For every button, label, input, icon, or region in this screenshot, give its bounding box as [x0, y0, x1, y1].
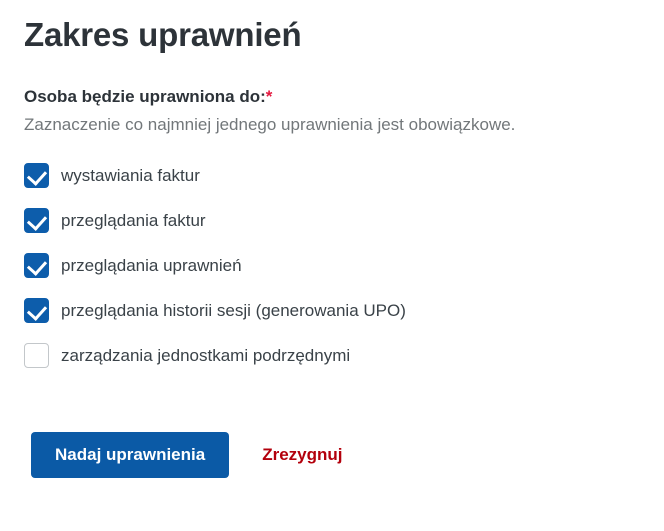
- cancel-button[interactable]: Zrezygnuj: [262, 445, 342, 465]
- check-icon: [27, 165, 47, 186]
- form-actions: Nadaj uprawnienia Zrezygnuj: [31, 432, 343, 478]
- list-item[interactable]: przeglądania uprawnień: [24, 243, 640, 288]
- checkbox-przegladania-historii-sesji[interactable]: [24, 298, 49, 323]
- permissions-checkbox-group: wystawiania faktur przeglądania faktur p…: [24, 153, 640, 378]
- list-item-label: przeglądania uprawnień: [61, 255, 242, 277]
- list-item-label: przeglądania faktur: [61, 210, 206, 232]
- page-title: Zakres uprawnień: [24, 0, 640, 56]
- submit-button[interactable]: Nadaj uprawnienia: [31, 432, 229, 478]
- field-label-text: Osoba będzie uprawniona do:: [24, 87, 266, 106]
- list-item[interactable]: przeglądania faktur: [24, 198, 640, 243]
- list-item-label: zarządzania jednostkami podrzędnymi: [61, 345, 350, 367]
- check-icon: [27, 300, 47, 321]
- list-item[interactable]: zarządzania jednostkami podrzędnymi: [24, 333, 640, 378]
- permission-scope-form: Zakres uprawnień Osoba będzie uprawniona…: [0, 0, 664, 531]
- checkbox-zarzadzania-jednostkami-podrzednymi[interactable]: [24, 343, 49, 368]
- check-icon: [27, 210, 47, 231]
- list-item-label: wystawiania faktur: [61, 165, 200, 187]
- field-hint: Zaznaczenie co najmniej jednego uprawnie…: [24, 114, 640, 136]
- required-asterisk: *: [266, 87, 273, 106]
- checkbox-przegladania-faktur[interactable]: [24, 208, 49, 233]
- list-item-label: przeglądania historii sesji (generowania…: [61, 300, 406, 322]
- checkbox-przegladania-uprawnien[interactable]: [24, 253, 49, 278]
- list-item[interactable]: przeglądania historii sesji (generowania…: [24, 288, 640, 333]
- checkbox-wystawiania-faktur[interactable]: [24, 163, 49, 188]
- check-icon: [27, 255, 47, 276]
- list-item[interactable]: wystawiania faktur: [24, 153, 640, 198]
- field-label: Osoba będzie uprawniona do:*: [24, 86, 640, 108]
